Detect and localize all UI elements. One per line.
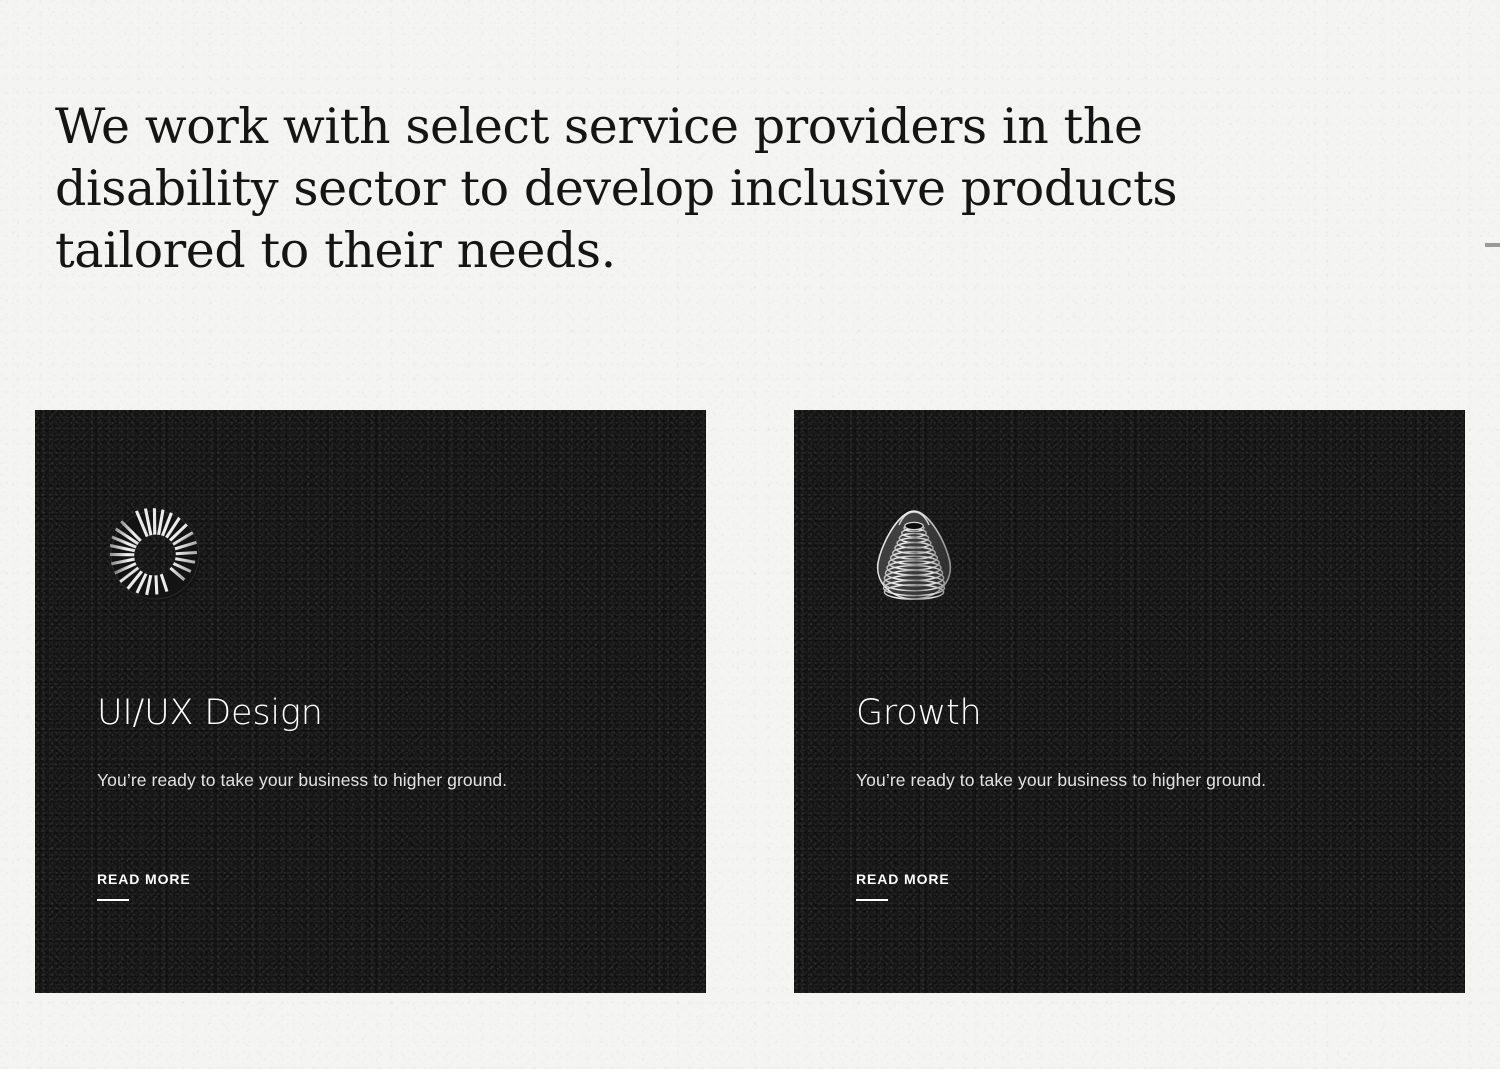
striped-torus-icon (95, 495, 215, 615)
page-title: We work with select service providers in… (55, 96, 1235, 282)
coiled-cone-icon (854, 495, 974, 615)
read-more-link[interactable]: READ MORE (97, 870, 191, 901)
service-card-ui-ux-design[interactable]: UI/UX Design You’re ready to take your b… (35, 410, 706, 993)
read-more-label: READ MORE (97, 870, 191, 888)
services-section: We work with select service providers in… (0, 0, 1500, 1069)
service-card-list: UI/UX Design You’re ready to take your b… (35, 410, 1465, 993)
read-more-label: READ MORE (856, 870, 950, 888)
card-title: UI/UX Design (97, 692, 323, 734)
read-more-underline (97, 899, 129, 901)
card-subtitle: You’re ready to take your business to hi… (97, 768, 507, 792)
service-card-growth[interactable]: Growth You’re ready to take your busines… (794, 410, 1465, 993)
card-subtitle: You’re ready to take your business to hi… (856, 768, 1266, 792)
read-more-underline (856, 899, 888, 901)
card-title: Growth (856, 692, 982, 734)
clipped-edge-marker (1485, 243, 1500, 247)
read-more-link[interactable]: READ MORE (856, 870, 950, 901)
